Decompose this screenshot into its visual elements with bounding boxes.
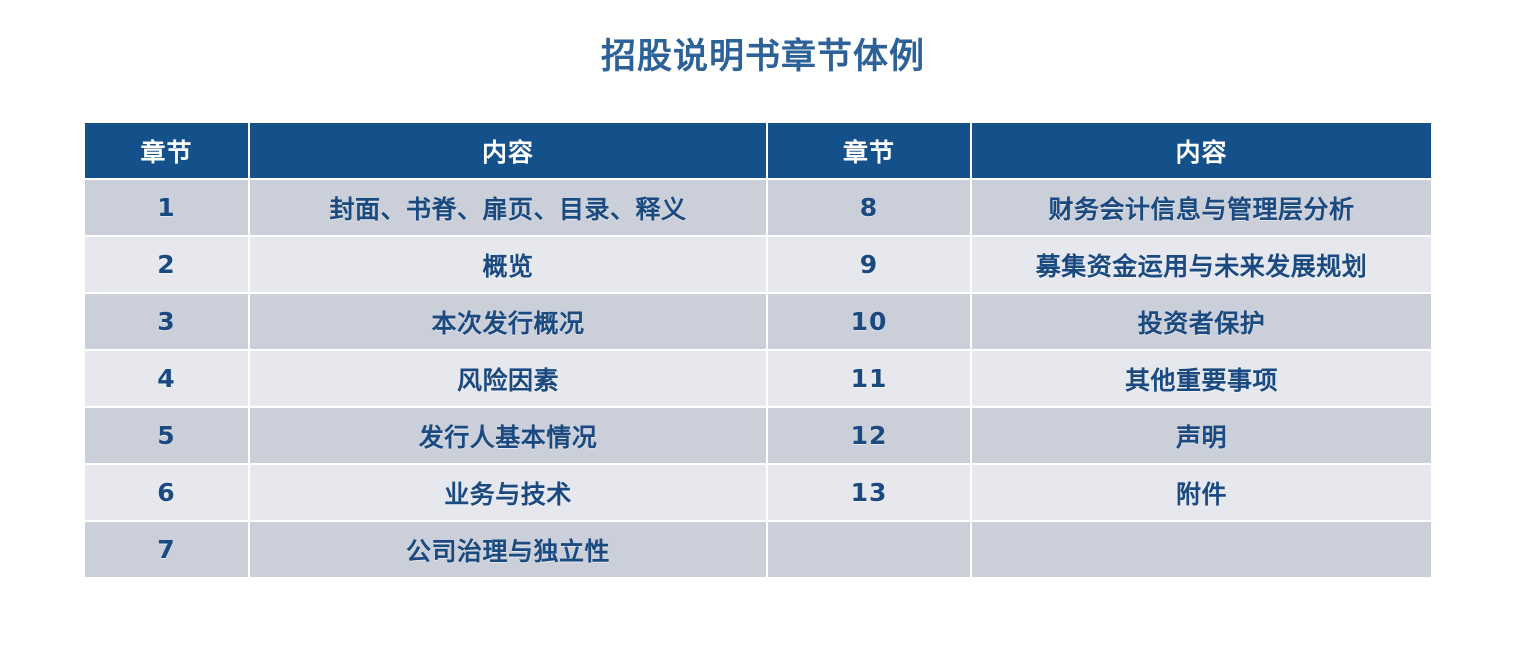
chapter-content-left: 概览 [250, 237, 766, 292]
chapter-content-left: 风险因素 [250, 351, 766, 406]
chapter-number-right: 11 [768, 351, 970, 406]
chapter-number-right: 9 [768, 237, 970, 292]
table-header: 章节 内容 章节 内容 [85, 123, 1431, 178]
chapter-number-left: 7 [85, 522, 248, 577]
chapter-content-right: 财务会计信息与管理层分析 [972, 180, 1431, 235]
chapter-number-right: 13 [768, 465, 970, 520]
chapter-content-right: 募集资金运用与未来发展规划 [972, 237, 1431, 292]
chapter-number-left: 6 [85, 465, 248, 520]
chapter-number-right: 10 [768, 294, 970, 349]
chapter-content-left: 本次发行概况 [250, 294, 766, 349]
chapter-content-left: 公司治理与独立性 [250, 522, 766, 577]
page-title-container: 招股说明书章节体例 [0, 28, 1526, 79]
chapter-number-left: 1 [85, 180, 248, 235]
table-header-row: 章节 内容 章节 内容 [85, 123, 1431, 178]
table-row: 6 业务与技术 13 附件 [85, 465, 1431, 520]
column-header-content-left: 内容 [250, 123, 766, 178]
chapter-content-right: 声明 [972, 408, 1431, 463]
page-title: 招股说明书章节体例 [601, 28, 925, 79]
slide-page: 招股说明书章节体例 章节 内容 章节 内容 1 封面、书脊、 [0, 0, 1526, 645]
chapter-content-right: 附件 [972, 465, 1431, 520]
table-row: 2 概览 9 募集资金运用与未来发展规划 [85, 237, 1431, 292]
column-header-chapter-left: 章节 [85, 123, 248, 178]
chapter-number-left: 2 [85, 237, 248, 292]
chapter-number-right-empty [768, 522, 970, 577]
chapter-number-left: 4 [85, 351, 248, 406]
chapter-content-left: 封面、书脊、扉页、目录、释义 [250, 180, 766, 235]
chapter-content-right: 其他重要事项 [972, 351, 1431, 406]
chapter-number-left: 5 [85, 408, 248, 463]
chapters-table-container: 章节 内容 章节 内容 1 封面、书脊、扉页、目录、释义 8 财务会计信息与管理… [85, 123, 1427, 577]
table-body: 1 封面、书脊、扉页、目录、释义 8 财务会计信息与管理层分析 2 概览 9 募… [85, 180, 1431, 577]
chapter-content-right: 投资者保护 [972, 294, 1431, 349]
table-row: 5 发行人基本情况 12 声明 [85, 408, 1431, 463]
table-row: 7 公司治理与独立性 [85, 522, 1431, 577]
chapter-content-left: 业务与技术 [250, 465, 766, 520]
chapters-table: 章节 内容 章节 内容 1 封面、书脊、扉页、目录、释义 8 财务会计信息与管理… [83, 121, 1433, 579]
table-row: 3 本次发行概况 10 投资者保护 [85, 294, 1431, 349]
column-header-content-right: 内容 [972, 123, 1431, 178]
chapter-number-right: 8 [768, 180, 970, 235]
chapter-number-right: 12 [768, 408, 970, 463]
column-header-chapter-right: 章节 [768, 123, 970, 178]
table-row: 1 封面、书脊、扉页、目录、释义 8 财务会计信息与管理层分析 [85, 180, 1431, 235]
chapter-number-left: 3 [85, 294, 248, 349]
chapter-content-left: 发行人基本情况 [250, 408, 766, 463]
table-row: 4 风险因素 11 其他重要事项 [85, 351, 1431, 406]
chapter-content-right-empty [972, 522, 1431, 577]
